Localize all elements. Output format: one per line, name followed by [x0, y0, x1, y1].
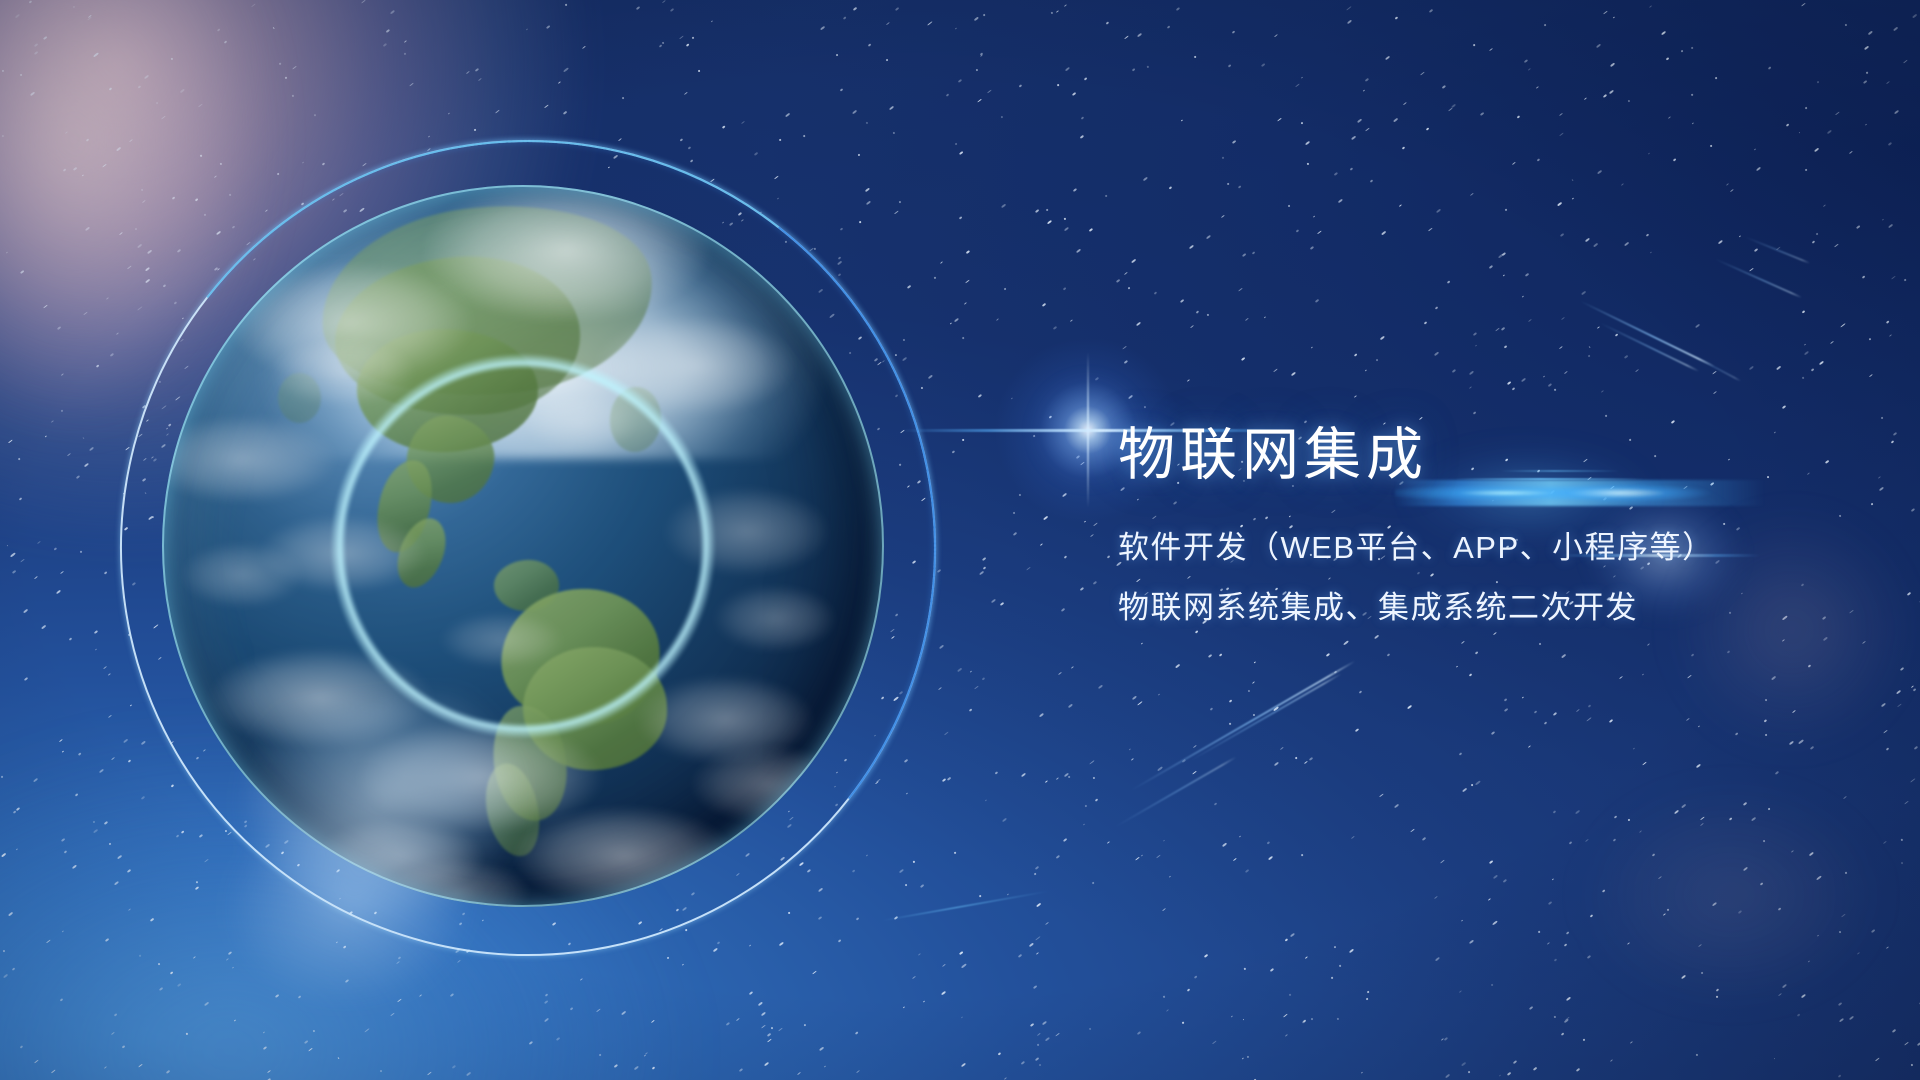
- hero-banner: 物联网集成 软件开发（WEB平台、APP、小程序等） 物联网系统集成、集成系统二…: [0, 0, 1920, 1080]
- lens-flare-bar: [1395, 480, 1765, 506]
- lens-flare-line-a: [1455, 478, 1645, 480]
- subtitle-line-1: 软件开发（WEB平台、APP、小程序等）: [1118, 532, 1715, 563]
- page-title: 物联网集成: [1118, 427, 1428, 484]
- lens-flare-spike: [1087, 352, 1089, 508]
- subtitle-line-2: 物联网系统集成、集成系统二次开发: [1118, 592, 1638, 623]
- lens-flare-line-b: [1500, 470, 1620, 472]
